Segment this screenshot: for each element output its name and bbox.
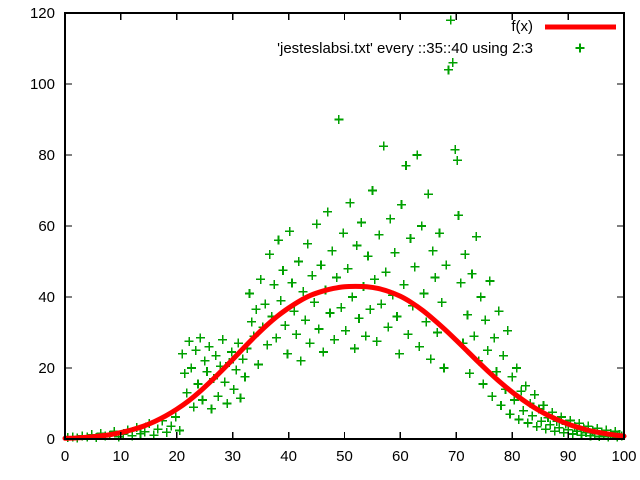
x-tick-label: 100 xyxy=(611,448,636,465)
x-tick-label: 40 xyxy=(280,448,297,465)
x-tick-label: 70 xyxy=(448,448,465,465)
x-tick-label: 10 xyxy=(113,448,130,465)
x-tick-label: 0 xyxy=(61,448,69,465)
x-tick-label: 20 xyxy=(168,448,185,465)
x-tick-label: 90 xyxy=(560,448,577,465)
plot-canvas: 0102030405060708090100 020406080100120 f… xyxy=(0,0,640,480)
legend-label-data: 'jesteslabsi.txt' every ::35::40 using 2… xyxy=(277,40,533,57)
y-tick-label: 60 xyxy=(38,218,55,235)
x-tick-label: 50 xyxy=(336,448,353,465)
legend-label-fx: f(x) xyxy=(511,18,533,35)
gnuplot-figure: 0102030405060708090100 020406080100120 f… xyxy=(0,0,640,480)
x-tick-label: 80 xyxy=(504,448,521,465)
y-tick-label: 80 xyxy=(38,147,55,164)
y-tick-label: 100 xyxy=(30,76,55,93)
x-tick-label: 60 xyxy=(392,448,409,465)
x-tick-label: 30 xyxy=(224,448,241,465)
y-tick-label: 120 xyxy=(30,5,55,22)
y-tick-label: 0 xyxy=(47,431,55,448)
y-tick-label: 40 xyxy=(38,289,55,306)
y-tick-label: 20 xyxy=(38,360,55,377)
